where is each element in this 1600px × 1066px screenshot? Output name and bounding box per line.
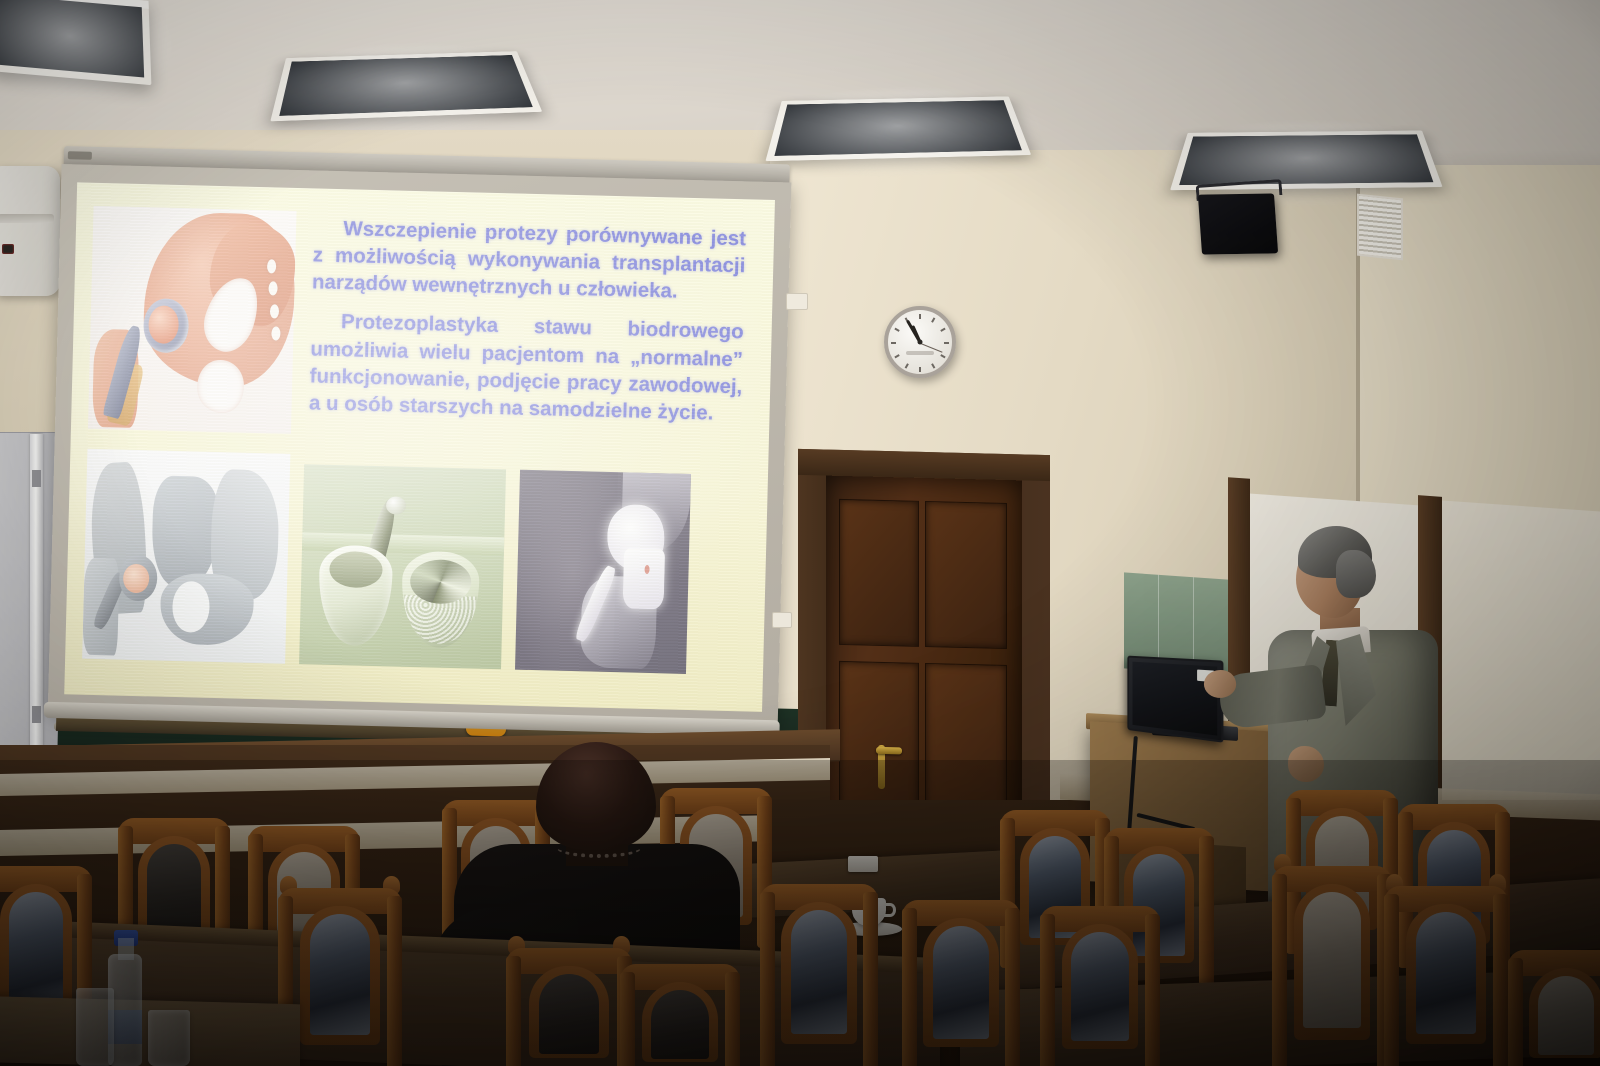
chair-front-3[interactable] xyxy=(506,948,632,1066)
presentation-slide: Wszczepienie protezy porównywane jest z … xyxy=(64,182,775,711)
screen-surface: Wszczepienie protezy porównywane jest z … xyxy=(48,164,792,730)
ac-vent-slat xyxy=(0,214,54,223)
light-switch-plate[interactable] xyxy=(786,293,808,310)
light-louver-panel xyxy=(774,100,1021,156)
sacrum-shape xyxy=(151,476,219,587)
wall-socket-plate[interactable] xyxy=(772,612,792,628)
chair-upholstery xyxy=(1538,976,1594,1055)
presenter-hair-back xyxy=(1336,550,1376,598)
sacral-foramen-dot xyxy=(269,304,278,318)
slide-paragraph-2: Protezoplastyka stawu biodrowego umożliw… xyxy=(309,308,744,428)
chair-post-right xyxy=(1005,908,1020,1066)
chair-upholstery xyxy=(539,974,599,1054)
wall-clock xyxy=(884,306,956,378)
ceiling-light-2 xyxy=(270,51,542,121)
door-panel-top-right xyxy=(926,502,1006,648)
attendee-hair xyxy=(536,742,656,850)
light-louver-panel xyxy=(1179,134,1433,185)
clock-tick xyxy=(940,328,945,332)
door-handle[interactable] xyxy=(876,747,902,755)
ceiling-light-3 xyxy=(765,96,1031,161)
clock-tick xyxy=(931,317,935,322)
chair-post-right xyxy=(1199,836,1214,986)
chair-upholstery xyxy=(1071,932,1129,1041)
small-white-box xyxy=(848,856,878,872)
door-panel-top-left xyxy=(840,500,918,646)
ceiling-light-1 xyxy=(0,0,151,85)
prosthesis-cups-photo xyxy=(299,465,506,670)
chair-post-left xyxy=(620,972,635,1066)
clock-tick xyxy=(891,342,896,344)
chair-post-right xyxy=(1493,894,1508,1066)
far-right-panel xyxy=(1442,500,1600,811)
chair-post-left xyxy=(902,908,917,1066)
wall-speaker xyxy=(1198,193,1278,254)
chair-front-6[interactable] xyxy=(902,900,1020,1066)
clock-tick xyxy=(905,363,909,368)
clock-tick xyxy=(919,314,921,319)
ventilation-grille xyxy=(1357,194,1403,261)
air-conditioner[interactable] xyxy=(0,166,60,296)
drinking-glass-right xyxy=(148,1010,190,1066)
light-louver-panel xyxy=(0,0,144,78)
clock-brand-mark xyxy=(906,351,934,355)
whiteboard-hinge-pin xyxy=(32,706,41,723)
chair-front-10[interactable] xyxy=(1508,950,1600,1066)
whiteboard-hinge-pin xyxy=(32,470,41,487)
chair-post-right xyxy=(725,972,740,1066)
chair-front-9[interactable] xyxy=(1384,886,1508,1066)
ceiling-light-4 xyxy=(1170,131,1443,191)
hip-anatomy-illustration xyxy=(88,206,296,434)
chair-upholstery xyxy=(1303,892,1361,1028)
clock-tick xyxy=(894,354,899,358)
light-louver-panel xyxy=(279,55,533,116)
chair-post-right xyxy=(387,896,402,1066)
coffee-cup-handle xyxy=(884,903,896,917)
presenter-laptop[interactable] xyxy=(1127,656,1223,743)
sacral-foramen-dot xyxy=(266,259,275,273)
projection-screen: Wszczepienie protezy porównywane jest z … xyxy=(47,150,791,748)
chair-post-left xyxy=(760,892,775,1066)
femoral-stem-ball xyxy=(386,497,407,515)
chair-post-left xyxy=(1384,894,1399,1066)
chair-front-4[interactable] xyxy=(620,964,740,1066)
sacral-foramen-dot xyxy=(271,326,280,340)
chair-upholstery xyxy=(651,990,709,1059)
clock-tick xyxy=(894,328,899,332)
xray-implant-body xyxy=(623,549,666,610)
chair-front-5[interactable] xyxy=(760,884,878,1066)
clock-tick xyxy=(931,363,935,368)
chair-post-right xyxy=(863,892,878,1066)
chair-upholstery xyxy=(310,914,370,1035)
roller-endcap xyxy=(68,151,92,160)
drinking-glass-left xyxy=(76,988,114,1066)
clock-center-pin xyxy=(918,340,923,345)
chair-post-left xyxy=(506,956,521,1066)
slide-paragraph-1: Wszczepienie protezy porównywane jest z … xyxy=(312,214,747,307)
ac-indicator-led xyxy=(2,244,14,254)
clock-tick xyxy=(919,367,921,372)
presenter-hand-right xyxy=(1288,746,1324,782)
chair-upholstery xyxy=(933,926,990,1039)
chair-upholstery xyxy=(791,910,848,1034)
chair-post-right xyxy=(1145,914,1160,1066)
chair-post-left xyxy=(1508,958,1523,1066)
chair-front-7[interactable] xyxy=(1040,906,1160,1066)
slide-text-block: Wszczepienie protezy porównywane jest z … xyxy=(309,214,747,428)
pelvis-model-photo xyxy=(83,449,291,664)
lecture-hall-scene: Wszczepienie protezy porównywane jest z … xyxy=(0,0,1600,1066)
chair-post-left xyxy=(1040,914,1055,1066)
clock-tick xyxy=(940,354,945,358)
hip-xray xyxy=(515,470,691,674)
sacral-foramen-dot xyxy=(268,282,277,296)
chair-post-left xyxy=(1272,874,1287,1066)
clock-tick xyxy=(944,342,949,344)
chair-upholstery xyxy=(1416,912,1476,1034)
chair-front-8[interactable] xyxy=(1272,866,1392,1066)
